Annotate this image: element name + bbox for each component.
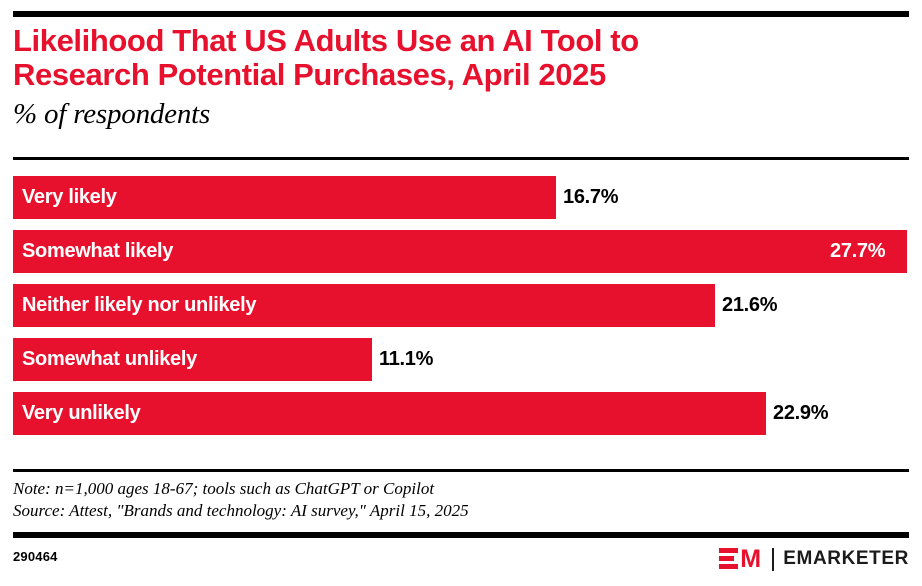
bar-chart: Very likely 16.7% Somewhat likely 27.7% … [0,176,922,461]
logo-divider [772,548,774,571]
emarketer-logo: M EMARKETER [719,546,909,572]
em-icon-bar-bottom [719,564,738,569]
bar-value-label: 22.9% [773,392,828,435]
bar-row: Very unlikely 22.9% [13,392,909,435]
page-title: Likelihood That US Adults Use an AI Tool… [13,24,909,92]
bar-row: Somewhat unlikely 11.1% [13,338,909,381]
page-subtitle: % of respondents [13,98,909,130]
bar-value-label: 27.7% [830,230,885,273]
bar-category-label: Very likely [22,176,117,219]
bar-value-label: 11.1% [379,338,433,381]
bottom-rule [13,532,909,538]
bar-category-label: Very unlikely [22,392,140,435]
bar-category-label: Somewhat likely [22,230,173,273]
bar-category-label: Somewhat unlikely [22,338,197,381]
em-icon-bar-middle [719,556,734,561]
header-divider-rule [13,157,909,160]
chart-header: Likelihood That US Adults Use an AI Tool… [13,24,909,130]
chart-page: Likelihood That US Adults Use an AI Tool… [0,0,922,586]
notes-divider-rule [13,469,909,472]
source-text: Source: Attest, "Brands and technology: … [13,500,713,522]
bar-value-label: 21.6% [722,284,777,327]
em-icon-m-glyph: M [740,547,761,571]
chart-id: 290464 [13,549,58,564]
top-rule [13,11,909,17]
chart-notes: Note: n=1,000 ages 18-67; tools such as … [13,478,713,522]
note-text: Note: n=1,000 ages 18-67; tools such as … [13,478,713,500]
bar-row: Somewhat likely 27.7% [13,230,909,273]
bar-value-label: 16.7% [563,176,618,219]
em-icon-bar-top [719,548,738,553]
bar-category-label: Neither likely nor unlikely [22,284,256,327]
logo-wordmark: EMARKETER [783,548,909,570]
bar-row: Neither likely nor unlikely 21.6% [13,284,909,327]
bar-row: Very likely 16.7% [13,176,909,219]
em-monogram-icon: M [719,547,763,571]
